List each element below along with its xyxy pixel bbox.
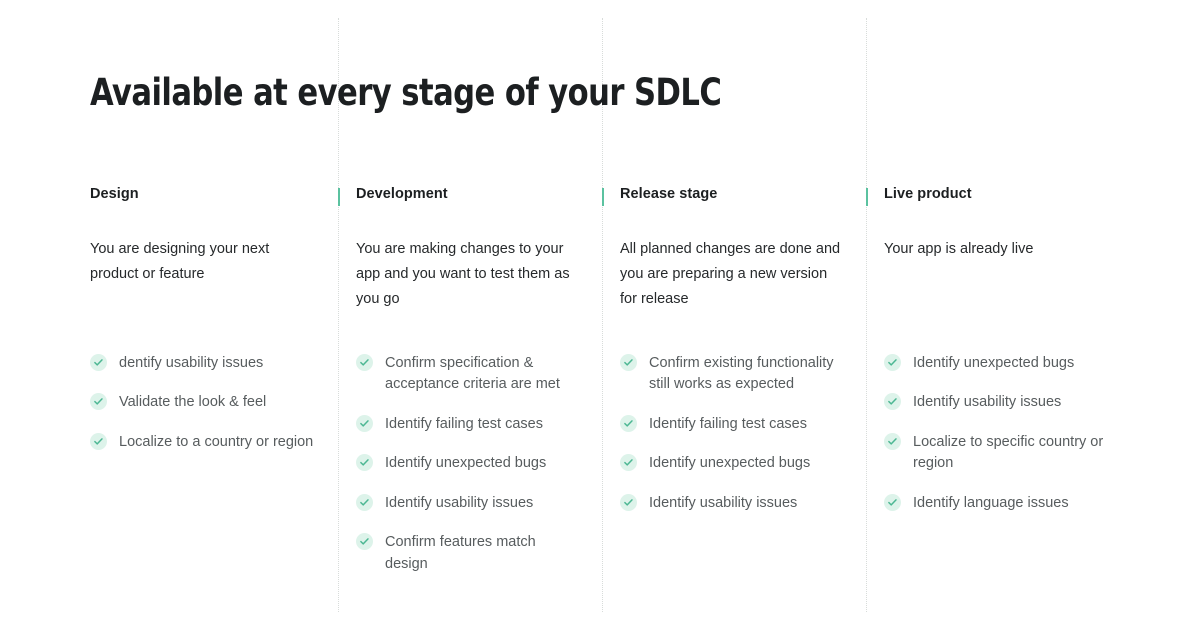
column-header-development: Development bbox=[356, 185, 578, 204]
list-item: dentify usability issues bbox=[90, 353, 320, 374]
list-item: Validate the look & feel bbox=[90, 392, 320, 413]
column-header-release: Release stage bbox=[620, 185, 842, 204]
check-circle-icon bbox=[620, 454, 637, 471]
column-header-design: Design bbox=[90, 185, 314, 204]
list-item-label: Confirm specification & acceptance crite… bbox=[385, 353, 582, 396]
list-item: Identify usability issues bbox=[620, 493, 852, 514]
list-item-label: Identify language issues bbox=[913, 493, 1069, 514]
list-item-label: Identify usability issues bbox=[385, 493, 533, 514]
list-item-label: Confirm existing functionality still wor… bbox=[649, 353, 852, 396]
list-item: Localize to specific country or region bbox=[884, 432, 1120, 475]
check-circle-icon bbox=[356, 494, 373, 511]
checklist-live: Identify unexpected bugs Identify usabil… bbox=[884, 353, 1120, 514]
check-circle-icon bbox=[884, 393, 901, 410]
check-circle-icon bbox=[90, 433, 107, 450]
list-item-label: Confirm features match design bbox=[385, 532, 582, 575]
check-circle-icon bbox=[356, 454, 373, 471]
check-circle-icon bbox=[620, 354, 637, 371]
check-circle-icon bbox=[356, 354, 373, 371]
list-item: Confirm existing functionality still wor… bbox=[620, 353, 852, 396]
stage-columns: Design You are designing your next produ… bbox=[0, 185, 1200, 312]
column-description-development: You are making changes to your app and y… bbox=[356, 237, 578, 312]
check-circle-icon bbox=[884, 433, 901, 450]
list-item: Confirm features match design bbox=[356, 532, 582, 575]
stage-column-design: Design You are designing your next produ… bbox=[90, 185, 338, 312]
list-item-label: Identify usability issues bbox=[649, 493, 797, 514]
accent-bar-live bbox=[866, 188, 868, 206]
column-description-design: You are designing your next product or f… bbox=[90, 237, 298, 287]
check-circle-icon bbox=[356, 415, 373, 432]
stage-column-live: Live product Your app is already live Id… bbox=[866, 185, 1130, 312]
list-item: Identify failing test cases bbox=[356, 414, 582, 435]
list-item-label: Identify unexpected bugs bbox=[913, 353, 1074, 374]
list-item: Confirm specification & acceptance crite… bbox=[356, 353, 582, 396]
list-item: Identify usability issues bbox=[356, 493, 582, 514]
list-item: Identify unexpected bugs bbox=[620, 453, 852, 474]
check-circle-icon bbox=[356, 533, 373, 550]
checklist-release: Confirm existing functionality still wor… bbox=[620, 353, 852, 514]
check-circle-icon bbox=[90, 354, 107, 371]
accent-bar-development bbox=[338, 188, 340, 206]
infographic-canvas: Available at every stage of your SDLC De… bbox=[0, 0, 1200, 630]
list-item: Identify unexpected bugs bbox=[356, 453, 582, 474]
list-item-label: Localize to a country or region bbox=[119, 432, 313, 453]
list-item-label: Identify failing test cases bbox=[649, 414, 807, 435]
check-circle-icon bbox=[620, 415, 637, 432]
checklist-development: Confirm specification & acceptance crite… bbox=[356, 353, 582, 575]
check-circle-icon bbox=[620, 494, 637, 511]
check-circle-icon bbox=[884, 354, 901, 371]
list-item-label: Validate the look & feel bbox=[119, 392, 266, 413]
list-item-label: Identify unexpected bugs bbox=[649, 453, 810, 474]
accent-bar-release bbox=[602, 188, 604, 206]
check-circle-icon bbox=[90, 393, 107, 410]
list-item: Identify usability issues bbox=[884, 392, 1120, 413]
list-item: Identify failing test cases bbox=[620, 414, 852, 435]
column-separator-3 bbox=[866, 18, 868, 612]
list-item: Identify unexpected bugs bbox=[884, 353, 1120, 374]
list-item-label: Localize to specific country or region bbox=[913, 432, 1120, 475]
list-item: Identify language issues bbox=[884, 493, 1120, 514]
list-item-label: Identify failing test cases bbox=[385, 414, 543, 435]
checklist-design: dentify usability issues Validate the lo… bbox=[90, 353, 320, 453]
list-item-label: dentify usability issues bbox=[119, 353, 263, 374]
column-description-live: Your app is already live bbox=[884, 237, 1106, 262]
page-title: Available at every stage of your SDLC bbox=[90, 72, 721, 115]
list-item-label: Identify unexpected bugs bbox=[385, 453, 546, 474]
list-item: Localize to a country or region bbox=[90, 432, 320, 453]
column-description-release: All planned changes are done and you are… bbox=[620, 237, 842, 312]
column-header-live: Live product bbox=[884, 185, 1106, 204]
check-circle-icon bbox=[884, 494, 901, 511]
stage-column-release: Release stage All planned changes are do… bbox=[602, 185, 866, 312]
stage-column-development: Development You are making changes to yo… bbox=[338, 185, 602, 312]
list-item-label: Identify usability issues bbox=[913, 392, 1061, 413]
